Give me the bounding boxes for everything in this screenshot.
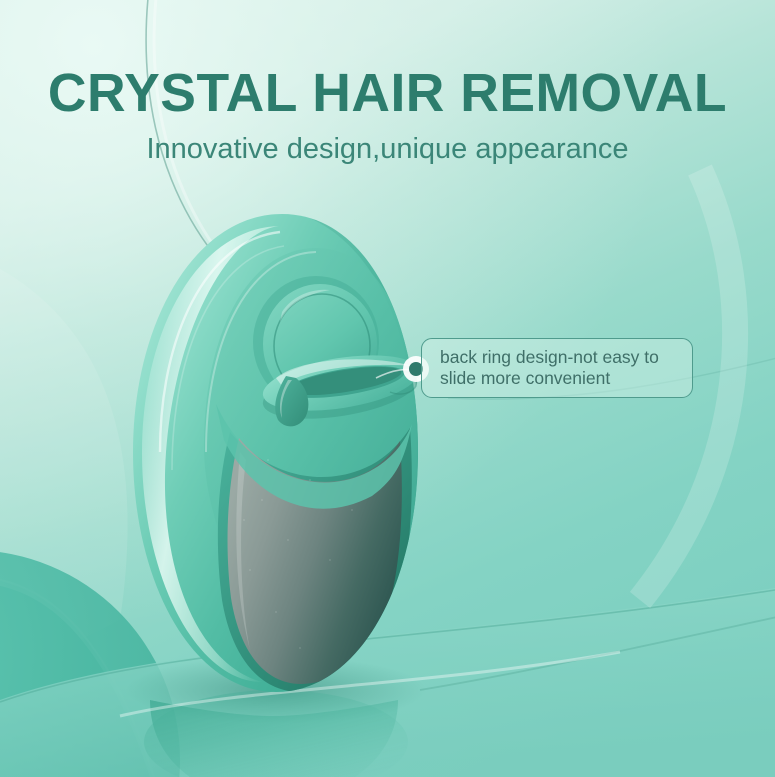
product-poster: CRYSTAL HAIR REMOVAL Innovative design,u… <box>0 0 775 777</box>
page-title: CRYSTAL HAIR REMOVAL <box>4 65 771 122</box>
feature-callout-text: back ring design-not easy to slide more … <box>440 347 692 389</box>
page-subtitle: Innovative design,unique appearance <box>0 133 775 166</box>
feature-callout: back ring design-not easy to slide more … <box>421 338 693 398</box>
